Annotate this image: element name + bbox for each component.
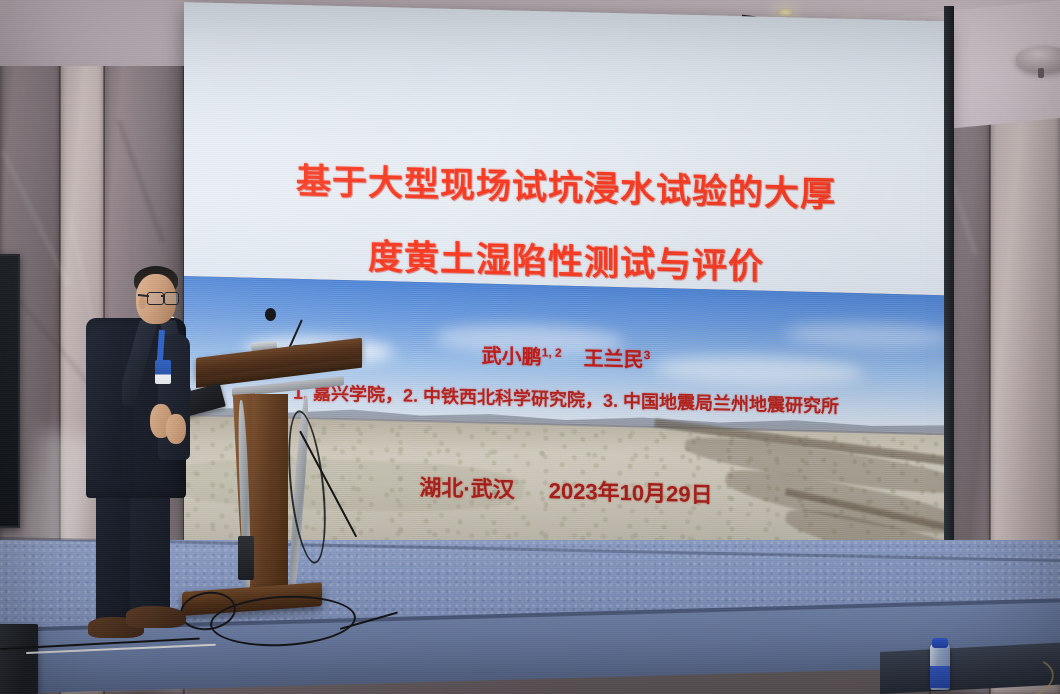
wall-display-panel xyxy=(0,254,20,528)
speaker-icon-floor xyxy=(0,624,38,694)
presenter-arm-left xyxy=(86,330,122,480)
conference-photo-scene: 基于大型现场试坑浸水试验的大厚 度黄土湿陷性测试与评价 武小鹏1, 2王兰民3 … xyxy=(0,0,1060,694)
venue-date: 2023年10月29日 xyxy=(549,478,713,507)
author-1-name: 武小鹏 xyxy=(482,346,542,370)
microphone-icon-head xyxy=(265,308,276,321)
sprinkler-icon xyxy=(1038,68,1044,78)
badge-icon xyxy=(155,360,171,384)
glasses-bridge xyxy=(161,295,165,297)
glasses-icon-left-lens xyxy=(147,292,164,305)
downlight-icon-1 xyxy=(777,8,794,17)
author-1-sup: 1, 2 xyxy=(542,345,562,360)
podium-connector-panel xyxy=(238,536,254,580)
presenter-ear xyxy=(139,297,146,309)
bottle-label xyxy=(930,666,950,688)
author-2-name: 王兰民 xyxy=(584,348,644,372)
water-bottle-icon xyxy=(930,644,950,690)
author-2-sup: 3 xyxy=(644,348,651,362)
screen-right-frame xyxy=(944,6,954,554)
podium-column xyxy=(252,394,288,604)
glasses-icon-right-lens xyxy=(164,292,179,305)
presenter-shoe-right xyxy=(126,606,186,628)
venue-place: 湖北·武汉 xyxy=(419,475,514,502)
presenter-hand-right xyxy=(166,414,186,444)
bottle-cap xyxy=(932,638,948,648)
